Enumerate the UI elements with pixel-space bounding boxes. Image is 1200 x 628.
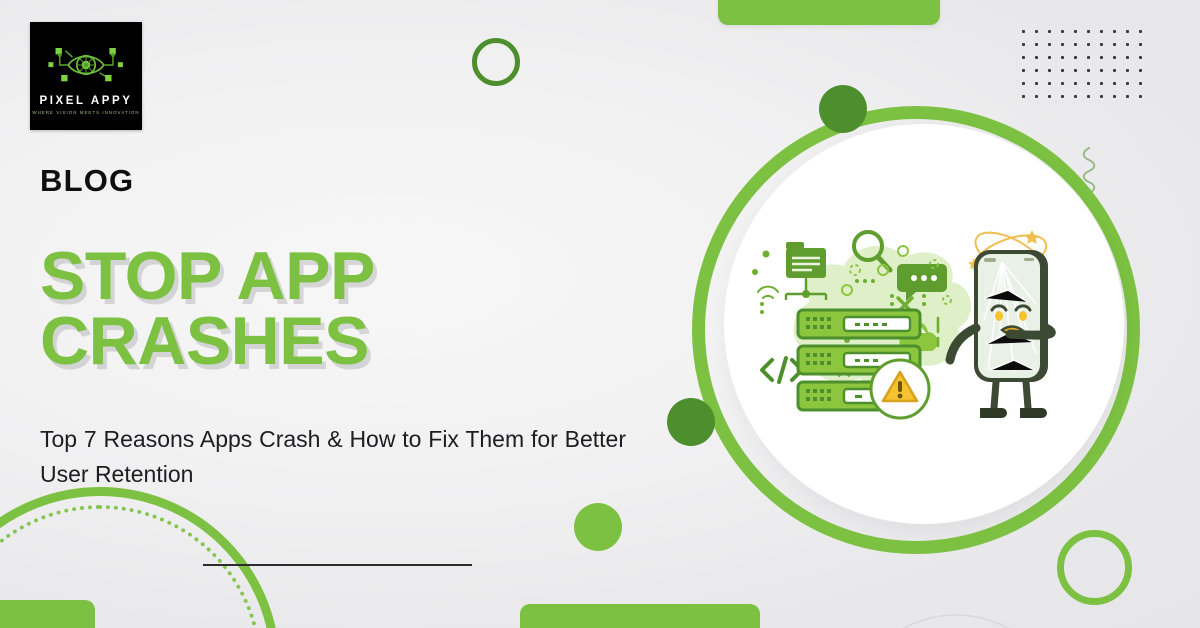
- grid-dot: [1139, 56, 1142, 59]
- grid-dot: [1100, 43, 1103, 46]
- headline-line-1: STOP APP: [40, 244, 680, 309]
- grid-dot: [1100, 69, 1103, 72]
- subtitle-text: Top 7 Reasons Apps Crash & How to Fix Th…: [40, 422, 626, 492]
- grid-dot: [1061, 56, 1064, 59]
- concentric-arcs-decor: [836, 545, 1076, 628]
- blog-banner: PIXEL APPY WHERE VISION MEETS INNOVATION…: [0, 0, 1200, 628]
- grid-dot: [1100, 30, 1103, 33]
- grid-dot: [1139, 69, 1142, 72]
- logo-tagline: WHERE VISION MEETS INNOVATION: [32, 110, 139, 115]
- grid-dot: [1074, 82, 1077, 85]
- kicker-label: BLOG: [40, 163, 134, 199]
- grid-dot: [1074, 30, 1077, 33]
- grid-dot: [1061, 95, 1064, 98]
- headline-line-2: CRASHES: [40, 309, 680, 374]
- grid-dot: [1035, 82, 1038, 85]
- grid-dot: [1087, 82, 1090, 85]
- grid-dot: [1139, 95, 1142, 98]
- grid-dot: [1061, 69, 1064, 72]
- grid-dot: [1035, 95, 1038, 98]
- code-brackets-icon: [762, 358, 802, 382]
- grid-dot: [1022, 56, 1025, 59]
- grid-dot: [1022, 43, 1025, 46]
- pixel-eye-circuit-icon: [47, 38, 125, 92]
- grid-dot: [1048, 69, 1051, 72]
- grid-dot: [1061, 82, 1064, 85]
- grid-dot: [1100, 56, 1103, 59]
- page-title: STOP APP CRASHES: [40, 244, 680, 375]
- grid-dot: [1022, 95, 1025, 98]
- grid-dot: [1074, 43, 1077, 46]
- grid-dot: [1035, 43, 1038, 46]
- grid-dot: [1048, 82, 1051, 85]
- grid-dot: [1126, 69, 1129, 72]
- dotted-green-ring-decor: [0, 505, 262, 628]
- logo-wordmark: PIXEL APPY: [39, 95, 132, 107]
- horizontal-rule: [203, 564, 472, 566]
- grid-dot: [1048, 56, 1051, 59]
- grid-dot: [1087, 69, 1090, 72]
- grid-dot: [1074, 69, 1077, 72]
- green-rect-top: [718, 0, 940, 25]
- grid-dot: [1087, 56, 1090, 59]
- grid-dot: [1061, 43, 1064, 46]
- dark-green-ring-decor: [472, 38, 520, 86]
- grid-dot: [1087, 30, 1090, 33]
- grid-dot: [1113, 30, 1116, 33]
- grid-dot: [1113, 95, 1116, 98]
- ring-dot-left-decor: [667, 398, 715, 446]
- grid-dot: [1061, 30, 1064, 33]
- grid-dot: [1113, 69, 1116, 72]
- grid-dot: [1126, 56, 1129, 59]
- grid-dot: [1022, 82, 1025, 85]
- grid-dot: [1074, 56, 1077, 59]
- cracked-phone-character: [950, 250, 1051, 418]
- hero-illustration: [692, 106, 1140, 554]
- grid-dot: [1113, 43, 1116, 46]
- grid-dot: [1113, 56, 1116, 59]
- grid-dot: [1048, 95, 1051, 98]
- grid-dot: [1126, 82, 1129, 85]
- grid-dot: [1087, 95, 1090, 98]
- ring-dot-top-decor: [819, 85, 867, 133]
- grid-dot: [1035, 69, 1038, 72]
- grid-dot: [1139, 43, 1142, 46]
- grid-dot: [1100, 82, 1103, 85]
- green-dot-decor: [574, 503, 622, 551]
- grid-dot: [1100, 95, 1103, 98]
- grid-dot: [1126, 30, 1129, 33]
- grid-dot: [1139, 30, 1142, 33]
- grid-dot: [1022, 30, 1025, 33]
- grid-dot: [1113, 82, 1116, 85]
- grid-dot: [1074, 95, 1077, 98]
- grid-dot: [1048, 43, 1051, 46]
- grid-dot: [1126, 95, 1129, 98]
- brand-logo[interactable]: PIXEL APPY WHERE VISION MEETS INNOVATION: [30, 22, 142, 130]
- grid-dot: [1126, 43, 1129, 46]
- grid-dot: [1087, 43, 1090, 46]
- crash-illustration-art: [752, 224, 1072, 430]
- grid-dot: [1048, 30, 1051, 33]
- grid-dot: [1035, 30, 1038, 33]
- warning-triangle-icon: [871, 360, 929, 418]
- grid-dot: [1139, 82, 1142, 85]
- green-rect-bottom: [520, 604, 760, 628]
- grid-dot: [1035, 56, 1038, 59]
- grid-dot: [1022, 69, 1025, 72]
